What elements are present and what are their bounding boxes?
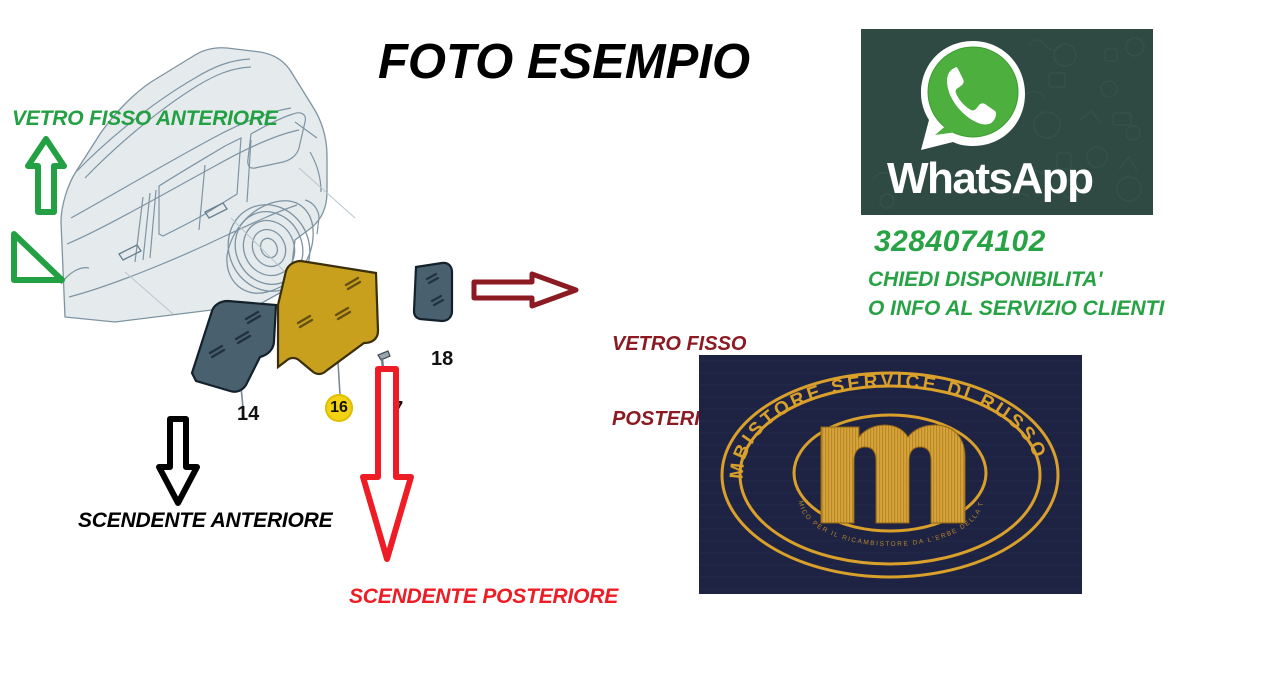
- green-up-arrow-icon: [25, 136, 67, 221]
- label-rear-drop-glass: SCENDENTE POSTERIORE: [349, 585, 618, 609]
- label-rear-fixed-glass-line1: VETRO FISSO: [612, 332, 746, 357]
- whatsapp-wordmark: WhatsApp: [887, 154, 1127, 204]
- exploded-glass-parts: [150, 245, 480, 435]
- whatsapp-banner[interactable]: WhatsApp: [861, 29, 1153, 215]
- darkred-right-arrow-icon: [470, 270, 580, 315]
- whatsapp-logo-icon: [915, 37, 1031, 157]
- black-down-arrow-icon: [155, 415, 201, 512]
- part-number-14: 14: [237, 403, 259, 426]
- part-badge-16: 16: [325, 394, 353, 422]
- part-16-rear-drop-glass: [278, 261, 378, 374]
- part-14-front-drop-glass: [192, 301, 276, 392]
- part-number-18: 18: [431, 348, 453, 371]
- contact-line-1: CHIEDI DISPONIBILITA': [868, 268, 1102, 292]
- whatsapp-phone-number[interactable]: 3284074102: [874, 225, 1046, 259]
- label-front-fixed-glass: VETRO FISSO ANTERIORE: [12, 107, 278, 131]
- contact-line-2: O INFO AL SERVIZIO CLIENTI: [868, 297, 1164, 321]
- page-title: FOTO ESEMPIO: [378, 34, 808, 90]
- shop-logo-graphic: MRICAMBISTORE SERVICE DI RUSSO MARCO IL …: [699, 355, 1082, 594]
- part-18-quarter-glass: [414, 263, 452, 321]
- part-badge-16-label: 16: [330, 399, 348, 417]
- green-triangle-icon: [8, 228, 66, 291]
- shop-logo-monogram: [821, 425, 965, 523]
- label-front-drop-glass: SCENDENTE ANTERIORE: [78, 509, 332, 533]
- red-down-arrow-icon: [358, 365, 416, 570]
- shop-logo: MRICAMBISTORE SERVICE DI RUSSO MARCO IL …: [699, 355, 1082, 594]
